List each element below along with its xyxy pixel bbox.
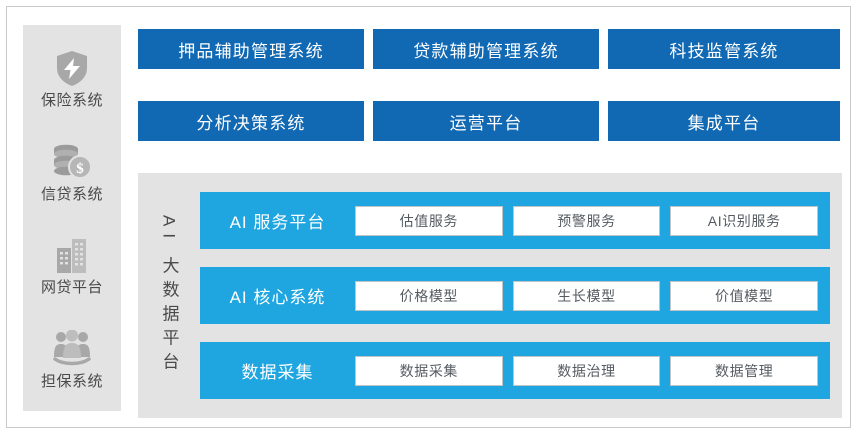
ai-bigdata-platform-panel: AI 大数据平台 AI 服务平台 估值服务 预警服务 AI识别服务 AI 核心系…: [138, 173, 842, 418]
banner-row-2: 分析决策系统 运营平台 集成平台: [138, 101, 840, 141]
shield-bolt-icon: [49, 46, 95, 90]
banner-button-operations-platform[interactable]: 运营平台: [373, 101, 599, 141]
platform-vertical-label-text: AI 大数据平台: [161, 215, 178, 377]
sidebar-item-guarantee[interactable]: 担保系统: [23, 327, 121, 391]
coins-dollar-icon: $: [49, 140, 95, 184]
sidebar-item-label: 担保系统: [41, 374, 103, 391]
platform-row-chips: 价格模型 生长模型 价值模型: [355, 281, 830, 311]
banner-button-loan-mgmt[interactable]: 贷款辅助管理系统: [373, 29, 599, 69]
sidebar-item-label: 保险系统: [41, 93, 103, 110]
chip-data-governance[interactable]: 数据治理: [513, 356, 661, 386]
chip-value-model[interactable]: 价值模型: [670, 281, 818, 311]
chip-valuation-service[interactable]: 估值服务: [355, 206, 503, 236]
chip-data-management[interactable]: 数据管理: [670, 356, 818, 386]
sidebar-item-label: 信贷系统: [41, 187, 103, 204]
platform-row-title: AI 服务平台: [200, 208, 355, 233]
platform-vertical-label: AI 大数据平台: [138, 173, 200, 418]
chip-ai-recognition-service[interactable]: AI识别服务: [670, 206, 818, 236]
sidebar-item-insurance[interactable]: 保险系统: [23, 46, 121, 110]
banner-row-1: 押品辅助管理系统 贷款辅助管理系统 科技监管系统: [138, 29, 840, 69]
buildings-icon: [49, 233, 95, 277]
platform-row-title: AI 核心系统: [200, 283, 355, 308]
sidebar-item-online-lending[interactable]: 网贷平台: [23, 233, 121, 297]
sidebar-item-credit[interactable]: $ 信贷系统: [23, 140, 121, 204]
chip-alert-service[interactable]: 预警服务: [513, 206, 661, 236]
diagram-frame: 保险系统 $ 信贷系统: [6, 6, 851, 428]
banner-button-integration-platform[interactable]: 集成平台: [608, 101, 840, 141]
svg-text:$: $: [76, 161, 84, 177]
chip-growth-model[interactable]: 生长模型: [513, 281, 661, 311]
platform-row-chips: 数据采集 数据治理 数据管理: [355, 356, 830, 386]
platform-row-ai-service: AI 服务平台 估值服务 预警服务 AI识别服务: [200, 192, 830, 249]
banner-button-collateral-mgmt[interactable]: 押品辅助管理系统: [138, 29, 364, 69]
platform-rows: AI 服务平台 估值服务 预警服务 AI识别服务 AI 核心系统 价格模型 生长…: [200, 173, 842, 418]
banner-button-analysis-decision[interactable]: 分析决策系统: [138, 101, 364, 141]
platform-row-chips: 估值服务 预警服务 AI识别服务: [355, 206, 830, 236]
sidebar-item-label: 网贷平台: [41, 280, 103, 297]
banner-button-tech-supervision[interactable]: 科技监管系统: [608, 29, 840, 69]
chip-price-model[interactable]: 价格模型: [355, 281, 503, 311]
platform-row-data-collection: 数据采集 数据采集 数据治理 数据管理: [200, 342, 830, 399]
platform-row-title: 数据采集: [200, 358, 355, 383]
people-group-icon: [49, 327, 95, 371]
platform-row-ai-core: AI 核心系统 价格模型 生长模型 价值模型: [200, 267, 830, 324]
sidebar: 保险系统 $ 信贷系统: [23, 25, 121, 411]
chip-data-collection[interactable]: 数据采集: [355, 356, 503, 386]
